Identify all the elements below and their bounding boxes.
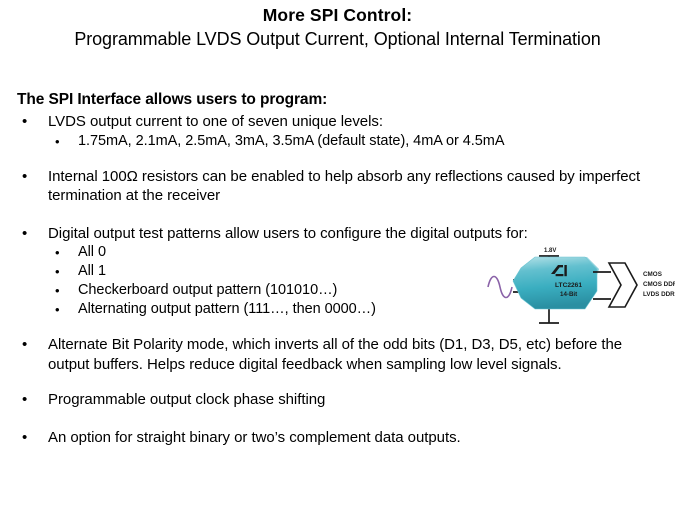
- list-item: • An option for straight binary or two’s…: [0, 428, 675, 448]
- ground-wire: [539, 309, 559, 323]
- list-item: • 1.75mA, 2.1mA, 2.5mA, 3mA, 3.5mA (defa…: [0, 132, 675, 151]
- bullet-glyph: •: [55, 300, 60, 319]
- bullet-glyph: •: [55, 281, 60, 300]
- chip-resolution-label: 14-Bit: [560, 291, 577, 298]
- list-item: • Alternating output pattern (111…, then…: [0, 300, 560, 319]
- bullet-glyph: •: [55, 243, 60, 262]
- list-item-label: All 1: [78, 263, 106, 279]
- bullet-glyph: •: [22, 390, 27, 410]
- list-item-label: Alternating output pattern (111…, then 0…: [78, 301, 376, 317]
- spacer: [0, 374, 675, 388]
- output-buffer-arrow-icon: [609, 263, 637, 307]
- list-item-label: Digital output test patterns allow users…: [48, 225, 528, 242]
- list-item-label: All 0: [78, 244, 106, 260]
- sine-wave-input-icon: [488, 277, 512, 298]
- list-item: • Internal 100Ω resistors can be enabled…: [0, 167, 668, 206]
- list-item: • LVDS output current to one of seven un…: [0, 112, 675, 132]
- list-item-label: Alternate Bit Polarity mode, which inver…: [48, 336, 622, 373]
- bullet-glyph: •: [22, 335, 27, 355]
- list-item-label: An option for straight binary or two’s c…: [48, 429, 461, 446]
- supply-voltage-label: 1.8V: [544, 248, 556, 254]
- bullet-glyph: •: [55, 262, 60, 281]
- list-item-label: Internal 100Ω resistors can be enabled t…: [48, 168, 640, 205]
- list-item: • Alternate Bit Polarity mode, which inv…: [0, 335, 668, 374]
- bullet-glyph: •: [22, 224, 27, 244]
- list-item-label: 1.75mA, 2.1mA, 2.5mA, 3mA, 3.5mA (defaul…: [78, 133, 504, 149]
- lead-in-text: The SPI Interface allows users to progra…: [17, 90, 675, 110]
- adc-block-diagram: 1.8V LTC2261 14-Bit: [487, 243, 675, 335]
- page-subtitle: Programmable LVDS Output Current, Option…: [0, 27, 675, 52]
- list-item: • Digital output test patterns allow use…: [0, 224, 675, 244]
- spacer: [0, 151, 675, 165]
- list-item: • Checkerboard output pattern (101010…): [0, 281, 560, 300]
- spacer: [0, 410, 675, 426]
- list-item: • Programmable output clock phase shifti…: [0, 390, 675, 410]
- list-item-label: LVDS output current to one of seven uniq…: [48, 113, 383, 130]
- output-label-lvds-ddr: LVDS DDR: [643, 291, 675, 298]
- bullet-glyph: •: [22, 112, 27, 132]
- page-title: More SPI Control:: [0, 4, 675, 27]
- spacer: [0, 206, 675, 222]
- output-label-cmos-ddr: CMOS DDR: [643, 281, 675, 288]
- output-label-cmos: CMOS: [643, 271, 662, 278]
- chip-part-number-label: LTC2261: [555, 282, 582, 289]
- slide-title-block: More SPI Control: Programmable LVDS Outp…: [0, 4, 675, 52]
- bullet-glyph: •: [22, 167, 27, 187]
- bullet-glyph: •: [55, 132, 60, 151]
- bullet-glyph: •: [22, 428, 27, 448]
- list-item-label: Checkerboard output pattern (101010…): [78, 282, 337, 298]
- list-item-label: Programmable output clock phase shifting: [48, 391, 325, 408]
